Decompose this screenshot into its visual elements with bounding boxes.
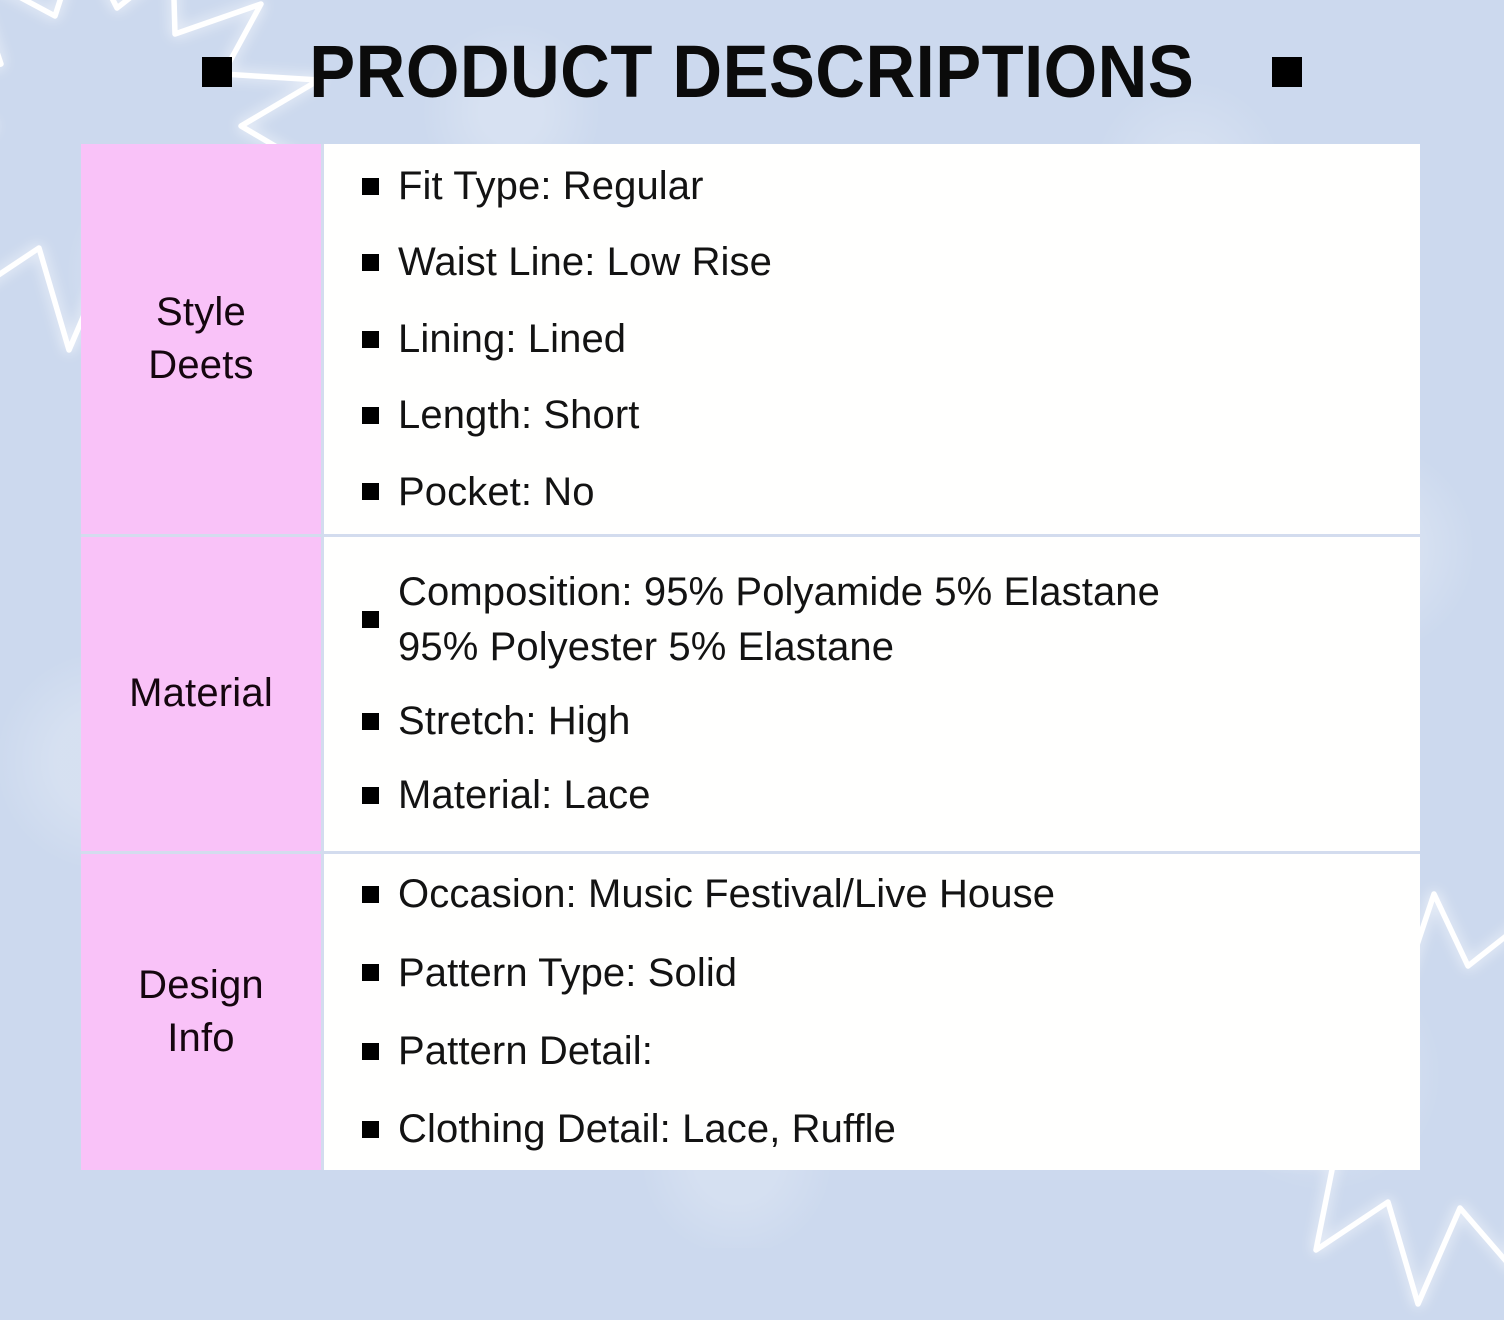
page-title-bar: PRODUCT DESCRIPTIONS (0, 24, 1504, 120)
row-label-design-info: Design Info (81, 854, 321, 1170)
list-item-label: Fit Type: Regular (398, 159, 704, 213)
list-item: Material: Lace (362, 758, 1396, 832)
list-item-label: Pattern Detail: (398, 1024, 653, 1078)
square-bullet-icon (362, 964, 379, 981)
row-label-style-deets: Style Deets (81, 144, 321, 534)
list-item-label: Occasion: Music Festival/Live House (398, 867, 1055, 921)
square-bullet-icon (362, 331, 379, 348)
list-item-label: Pocket: No (398, 465, 595, 519)
square-bullet-icon (362, 713, 379, 730)
square-bullet-icon (362, 254, 379, 271)
table-row: Design Info Occasion: Music Festival/Liv… (81, 854, 1420, 1170)
square-bullet-icon (362, 178, 379, 195)
list-item-label: Composition: 95% Polyamide 5% Elastane 9… (398, 565, 1160, 674)
list-item: Composition: 95% Polyamide 5% Elastane 9… (362, 555, 1396, 684)
list-item: Pattern Type: Solid (362, 934, 1396, 1012)
list-item-label: Lining: Lined (398, 312, 626, 366)
list-item-label: Stretch: High (398, 694, 631, 748)
row-content-material: Composition: 95% Polyamide 5% Elastane 9… (324, 537, 1420, 851)
title-left-square-icon (202, 57, 232, 87)
product-descriptions-table: Style Deets Fit Type: Regular Waist Line… (81, 144, 1420, 1167)
square-bullet-icon (362, 886, 379, 903)
row-content-style-deets: Fit Type: Regular Waist Line: Low Rise L… (324, 144, 1420, 534)
title-right-square-icon (1272, 57, 1302, 87)
square-bullet-icon (362, 611, 379, 628)
list-item: Length: Short (362, 377, 1396, 453)
row-content-design-info: Occasion: Music Festival/Live House Patt… (324, 854, 1420, 1170)
square-bullet-icon (362, 1121, 379, 1138)
list-item: Pocket: No (362, 454, 1396, 530)
table-row: Material Composition: 95% Polyamide 5% E… (81, 537, 1420, 851)
list-item: Occasion: Music Festival/Live House (362, 855, 1396, 933)
table-row: Style Deets Fit Type: Regular Waist Line… (81, 144, 1420, 534)
list-item: Waist Line: Low Rise (362, 224, 1396, 300)
list-item: Pattern Detail: (362, 1012, 1396, 1090)
list-item-label: Material: Lace (398, 768, 651, 822)
square-bullet-icon (362, 407, 379, 424)
square-bullet-icon (362, 483, 379, 500)
list-item-label: Length: Short (398, 388, 639, 442)
list-item-label: Waist Line: Low Rise (398, 235, 772, 289)
square-bullet-icon (362, 787, 379, 804)
list-item-label: Pattern Type: Solid (398, 946, 737, 1000)
row-label-material: Material (81, 537, 321, 851)
square-bullet-icon (362, 1043, 379, 1060)
list-item: Lining: Lined (362, 301, 1396, 377)
list-item: Fit Type: Regular (362, 148, 1396, 224)
list-item: Clothing Detail: Lace, Ruffle (362, 1090, 1396, 1168)
page-title: PRODUCT DESCRIPTIONS (310, 35, 1195, 109)
list-item: Stretch: High (362, 684, 1396, 758)
list-item-label: Clothing Detail: Lace, Ruffle (398, 1102, 896, 1156)
